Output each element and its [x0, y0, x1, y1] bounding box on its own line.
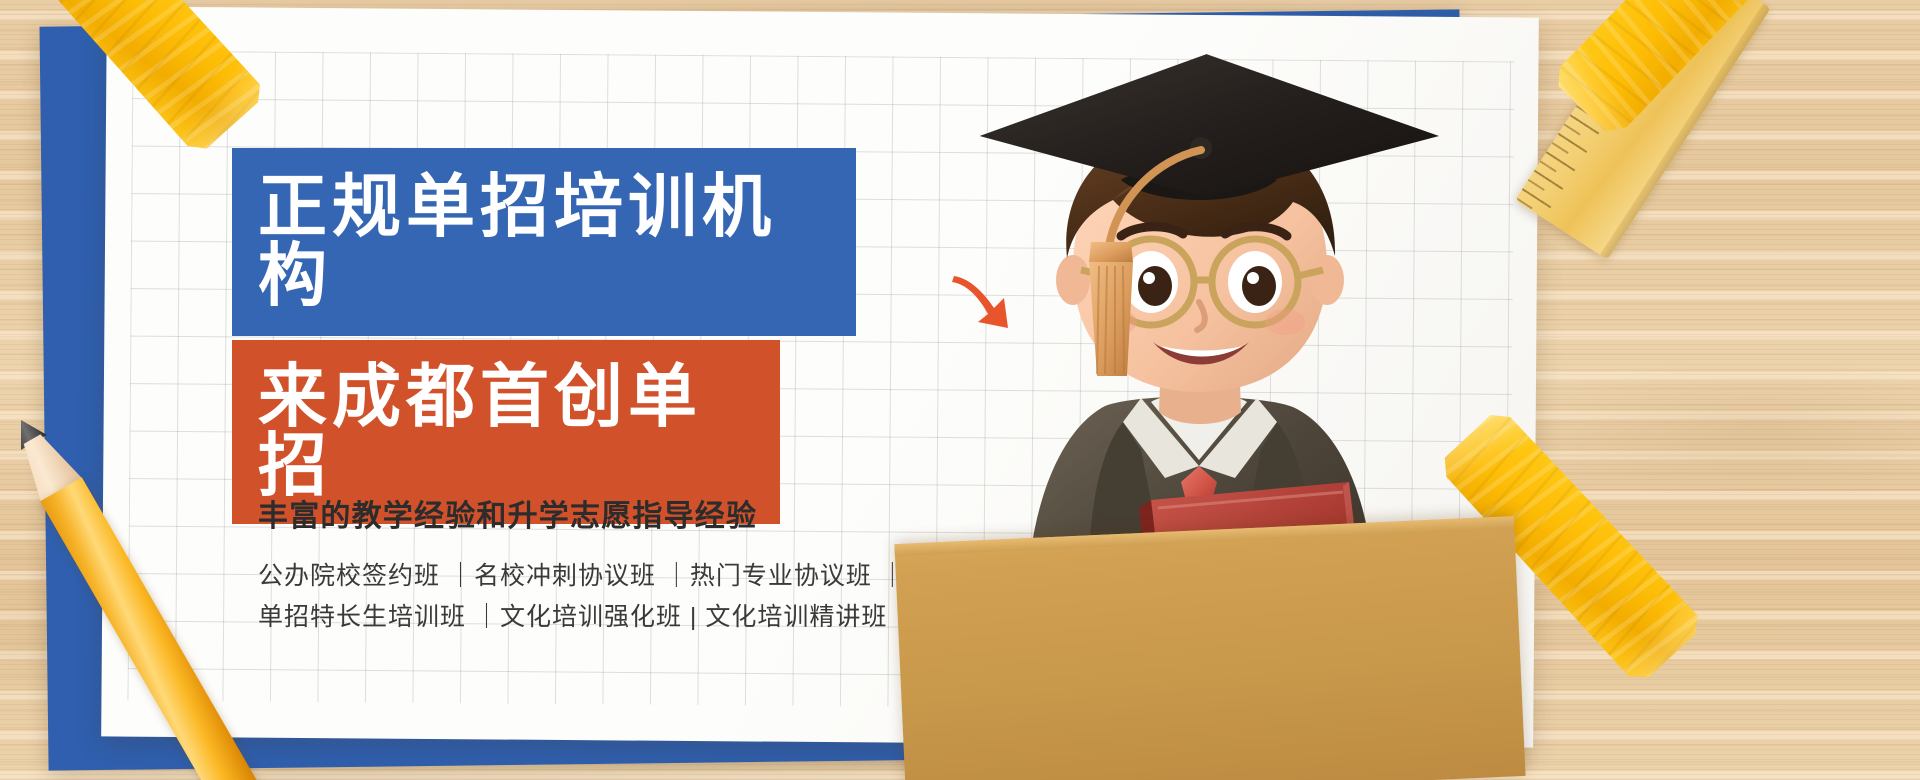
headline-group: 正规单招培训机构 来成都首创单招 — [232, 148, 856, 524]
headline-primary: 正规单招培训机构 — [232, 148, 856, 336]
body-copy: 丰富的教学经验和升学志愿指导经验 公办院校签约班 ｜名校冲刺协议班 ｜热门专业协… — [258, 498, 906, 637]
course-line-2: 单招特长生培训班 ｜文化培训强化班 | 文化培训精讲班 — [258, 597, 906, 638]
lead-text: 丰富的教学经验和升学志愿指导经验 — [258, 498, 906, 536]
banner-canvas: 正规单招培训机构 来成都首创单招 丰富的教学经验和升学志愿指导经验 公办院校签约… — [0, 0, 1920, 780]
course-line-1: 公办院校签约班 ｜名校冲刺协议班 ｜热门专业协议班 ｜ — [258, 556, 906, 597]
cardboard-sign — [894, 516, 1525, 780]
headline-secondary: 来成都首创单招 — [232, 340, 780, 524]
graduation-cap — [980, 54, 1439, 200]
